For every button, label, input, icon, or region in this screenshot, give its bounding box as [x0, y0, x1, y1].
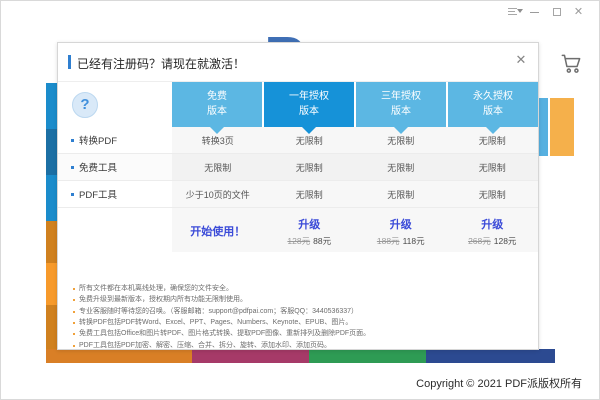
- note-text: 免费升级到最新版本，授权期内所有功能无限制使用。: [79, 294, 247, 305]
- close-modal-button[interactable]: ✕: [513, 51, 529, 67]
- copyright-text: Copyright © 2021 PDF派版权所有: [416, 375, 582, 391]
- modal-title: 已经有注册码？请现在就激活！: [77, 55, 245, 72]
- note-bullet-icon: [73, 333, 75, 335]
- bullet-icon: [71, 193, 74, 196]
- plan-comparison-table: ? 免费版本一年授权版本三年授权版本永久授权版本 转换PDF转换3页无限制无限制…: [58, 82, 538, 252]
- feature-name-cell: 转换PDF: [58, 127, 172, 153]
- note-item: 转换PDF包括PDF转Word、Excel、PPT、Pages、Numbers、…: [71, 317, 528, 328]
- maximize-button[interactable]: [548, 4, 565, 20]
- plan-tab-subtitle: 版本: [207, 105, 227, 120]
- note-bullet-icon: [73, 311, 75, 313]
- plan-header-row: ? 免费版本一年授权版本三年授权版本永久授权版本: [58, 82, 538, 127]
- price-line: 188元118元: [377, 235, 425, 247]
- feature-value-cell: 无限制: [447, 154, 539, 180]
- plan-action-row: 开始使用！升级128元88元升级188元118元升级268元128元: [58, 208, 538, 252]
- feature-name: PDF工具: [79, 187, 117, 201]
- activation-modal: 已经有注册码？请现在就激活！ ✕ ? 免费版本一年授权版本三年授权版本永久授权版…: [57, 42, 539, 350]
- price-current: 118元: [403, 236, 425, 246]
- help-cell: ?: [58, 82, 172, 127]
- plan-tab-title: 永久授权: [473, 90, 513, 105]
- feature-value-cell: 无限制: [355, 154, 447, 180]
- plan-tab-arrow-icon: [394, 127, 408, 134]
- feature-value-cell: 无限制: [447, 181, 539, 207]
- price-original: 268元: [468, 236, 491, 246]
- price-line: 128元88元: [287, 235, 331, 247]
- note-item: 免费升级到最新版本，授权期内所有功能无限制使用。: [71, 294, 528, 305]
- plan-tab-arrow-icon: [486, 127, 500, 134]
- chevron-down-icon: [517, 9, 523, 13]
- feature-row: 转换PDF转换3页无限制无限制无限制: [58, 127, 538, 154]
- plan-tab-arrow-icon: [302, 127, 316, 134]
- plan-tab-2[interactable]: 一年授权版本: [264, 82, 354, 127]
- menu-icon[interactable]: [504, 4, 521, 20]
- feature-value-cell: 少于10页的文件: [172, 181, 264, 207]
- application-window: ✕ P Copyright © 2021 PDF派版权所有 已经有注册码？请现在…: [0, 0, 600, 400]
- upgrade-button[interactable]: 升级: [481, 216, 503, 232]
- plan-tab-subtitle: 版本: [391, 105, 411, 120]
- minimize-button[interactable]: [526, 4, 543, 20]
- feature-row: 免费工具无限制无限制无限制无限制: [58, 154, 538, 181]
- note-text: 转换PDF包括PDF转Word、Excel、PPT、Pages、Numbers、…: [79, 317, 352, 328]
- bullet-icon: [71, 139, 74, 142]
- feature-row: PDF工具少于10页的文件无限制无限制无限制: [58, 181, 538, 208]
- plan-tab-1[interactable]: 免费版本: [172, 82, 262, 127]
- note-bullet-icon: [73, 345, 75, 347]
- feature-name-cell: 免费工具: [58, 154, 172, 180]
- note-item: 免费工具包括Office和图片转PDF、图片格式转换、提取PDF图像、重新排列及…: [71, 328, 528, 339]
- price-original: 128元: [287, 236, 310, 246]
- maximize-icon: [553, 8, 561, 16]
- ribbon-segment-4: [426, 349, 555, 363]
- price-line: 268元128元: [468, 235, 516, 247]
- accent-bar: [68, 55, 71, 69]
- shopping-cart-icon[interactable]: [558, 50, 584, 76]
- plan-tab-subtitle: 版本: [483, 105, 503, 120]
- price-current: 88元: [313, 236, 331, 246]
- start-using-button[interactable]: 开始使用！: [190, 223, 245, 239]
- plan-tab-title: 三年授权: [381, 90, 421, 105]
- feature-name-cell: PDF工具: [58, 181, 172, 207]
- plan-action-cell-3: 升级188元118元: [355, 208, 447, 252]
- upgrade-button[interactable]: 升级: [390, 216, 412, 232]
- backdrop-block-right-orange: [550, 98, 574, 156]
- hamburger-icon: [508, 8, 517, 17]
- minimize-icon: [530, 12, 539, 13]
- notes-block: 所有文件都在本机离线处理，确保您的文件安全。免费升级到最新版本，授权期内所有功能…: [58, 277, 538, 350]
- plan-tab-subtitle: 版本: [299, 105, 319, 120]
- title-bar: ✕: [1, 1, 599, 23]
- ribbon-segment-1: [46, 349, 192, 363]
- help-icon[interactable]: ?: [72, 92, 98, 118]
- price-original: 188元: [377, 236, 400, 246]
- bullet-icon: [71, 166, 74, 169]
- upgrade-button[interactable]: 升级: [298, 216, 320, 232]
- note-text: PDF工具包括PDF加密、解密、压缩、合并、拆分、旋转、添加水印、添加页码。: [79, 340, 331, 350]
- ribbon-segment-2: [192, 349, 309, 363]
- plan-action-cell-4: 升级268元128元: [447, 208, 539, 252]
- note-bullet-icon: [73, 288, 75, 290]
- feature-value-cell: 无限制: [264, 154, 356, 180]
- note-item: 所有文件都在本机离线处理，确保您的文件安全。: [71, 283, 528, 294]
- plan-tab-arrow-icon: [210, 127, 224, 134]
- modal-header: 已经有注册码？请现在就激活！ ✕: [58, 43, 538, 82]
- plan-action-cell-1: 开始使用！: [172, 208, 264, 252]
- note-text: 专业客服随时等待您的召唤。（客服邮箱：support@pdfpai.com；客服…: [79, 306, 358, 317]
- feature-name: 免费工具: [79, 160, 117, 174]
- plan-tab-4[interactable]: 永久授权版本: [448, 82, 538, 127]
- ribbon-segment-3: [309, 349, 426, 363]
- feature-value-cell: 无限制: [355, 181, 447, 207]
- plan-tab-title: 免费: [207, 90, 227, 105]
- note-text: 所有文件都在本机离线处理，确保您的文件安全。: [79, 283, 233, 294]
- plan-action-cell-2: 升级128元88元: [264, 208, 356, 252]
- plan-tab-title: 一年授权: [289, 90, 329, 105]
- note-item: 专业客服随时等待您的召唤。（客服邮箱：support@pdfpai.com；客服…: [71, 306, 528, 317]
- color-ribbon: [46, 349, 555, 363]
- price-current: 128元: [494, 236, 517, 246]
- note-text: 免费工具包括Office和图片转PDF、图片格式转换、提取PDF图像、重新排列及…: [79, 328, 370, 339]
- note-item: PDF工具包括PDF加密、解密、压缩、合并、拆分、旋转、添加水印、添加页码。: [71, 340, 528, 350]
- feature-value-cell: 无限制: [172, 154, 264, 180]
- note-bullet-icon: [73, 299, 75, 301]
- feature-value-cell: 无限制: [264, 181, 356, 207]
- feature-name: 转换PDF: [79, 133, 117, 147]
- plan-tab-3[interactable]: 三年授权版本: [356, 82, 446, 127]
- close-window-button[interactable]: ✕: [570, 4, 587, 20]
- note-bullet-icon: [73, 322, 75, 324]
